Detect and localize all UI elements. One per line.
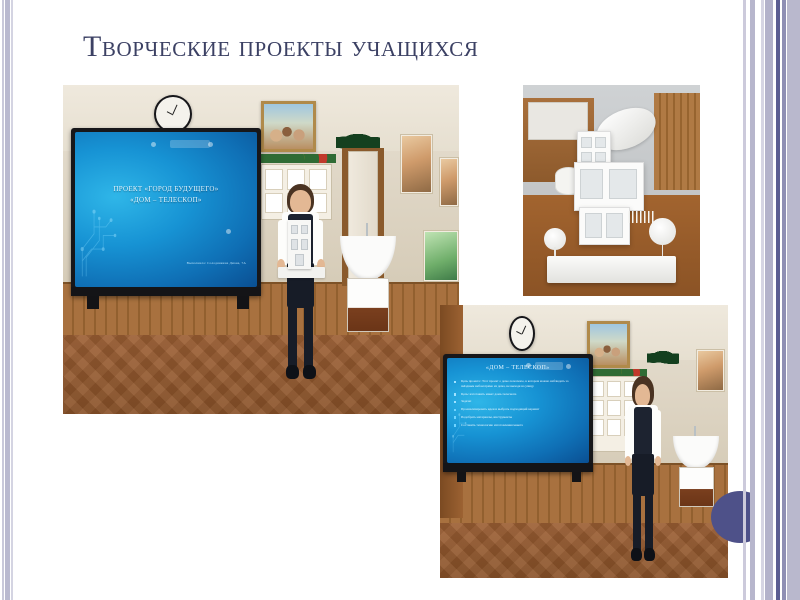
framed-drawing bbox=[587, 321, 630, 367]
toolbar-dot-icon[interactable] bbox=[208, 142, 213, 147]
poster-image bbox=[441, 159, 457, 204]
band-stripe-1 bbox=[743, 0, 746, 600]
whiteboard-stand bbox=[87, 296, 99, 309]
whiteboard-screen[interactable]: ПРОЕКТ «ГОРОД БУДУЩЕГО» «ДОМ – ТЕЛЕСКОП»… bbox=[75, 132, 257, 287]
classroom-scene-2: «ДОМ – ТЕЛЕСКОП» Цель проекта: Этот прое… bbox=[440, 305, 728, 578]
whiteboard-screen[interactable]: «ДОМ – ТЕЛЕСКОП» Цель проекта: Этот прое… bbox=[447, 358, 589, 462]
right-arm bbox=[654, 410, 660, 460]
model-window bbox=[581, 137, 592, 148]
band-stripe-5 bbox=[776, 0, 780, 600]
wall-poster bbox=[696, 349, 725, 393]
poster-image bbox=[425, 232, 457, 281]
bullet-item: Цель проекта: Этот проект о доме-телеско… bbox=[454, 379, 580, 389]
left-arm bbox=[625, 410, 631, 460]
left-leg bbox=[633, 491, 640, 552]
wash-basin bbox=[673, 436, 719, 507]
bullet-item: Составить технологию изготовления макета bbox=[454, 423, 580, 428]
right-shoe bbox=[303, 365, 316, 379]
model-window bbox=[301, 239, 308, 250]
interactive-whiteboard[interactable]: ПРОЕКТ «ГОРОД БУДУЩЕГО» «ДОМ – ТЕЛЕСКОП»… bbox=[71, 128, 261, 296]
model-window bbox=[585, 213, 602, 238]
slide-title: Творческие проекты учащихся bbox=[83, 30, 703, 64]
stripe-2 bbox=[5, 0, 10, 600]
held-house-model bbox=[288, 220, 311, 269]
bullet-item: Подобрать материалы, инструменты bbox=[454, 415, 580, 420]
poster-image bbox=[698, 351, 723, 391]
whiteboard-stand bbox=[237, 296, 249, 309]
model-fence bbox=[628, 211, 655, 223]
model-window bbox=[609, 169, 638, 200]
screen-toolbar[interactable] bbox=[170, 140, 210, 149]
model-window bbox=[595, 152, 606, 163]
slide-line-2: «ДОМ – ТЕЛЕСКОП» bbox=[130, 196, 202, 204]
model-main-block bbox=[574, 162, 644, 210]
left-hand bbox=[625, 456, 631, 466]
basin-cabinet bbox=[679, 467, 714, 507]
head bbox=[635, 384, 651, 407]
dark-vest bbox=[634, 407, 653, 457]
wall-poster bbox=[423, 230, 459, 283]
basin-cabinet bbox=[347, 278, 389, 331]
whiteboard-slide-title: ПРОЕКТ «ГОРОД БУДУЩЕГО» «ДОМ – ТЕЛЕСКОП» bbox=[86, 184, 246, 206]
wall-poster bbox=[439, 157, 459, 206]
model-window bbox=[301, 225, 308, 234]
model-base-platform bbox=[547, 256, 676, 284]
photo-student-presenting-goals[interactable]: «ДОМ – ТЕЛЕСКОП» Цель проекта: Этот прое… bbox=[440, 305, 728, 578]
student-figure bbox=[267, 184, 334, 388]
classroom-scene: ПРОЕКТ «ГОРОД БУДУЩЕГО» «ДОМ – ТЕЛЕСКОП»… bbox=[63, 85, 459, 414]
screen-corner-dot-icon[interactable] bbox=[226, 229, 231, 234]
whiteboard-slide-heading: «ДОМ – ТЕЛЕСКОП» bbox=[447, 365, 589, 371]
model-window bbox=[291, 225, 298, 234]
whiteboard-stand bbox=[457, 472, 466, 483]
model-window bbox=[580, 169, 603, 200]
basin-bowl bbox=[340, 236, 395, 280]
wash-basin bbox=[340, 236, 395, 331]
whiteboard-bezel bbox=[443, 463, 593, 472]
framed-drawing bbox=[261, 101, 316, 152]
right-leg bbox=[645, 491, 652, 552]
photo-white-house-telescope-model[interactable] bbox=[523, 85, 700, 296]
head bbox=[290, 190, 311, 214]
presentation-slide: Творческие проекты учащихся bbox=[0, 0, 800, 600]
model-window bbox=[291, 239, 298, 250]
bullet-item: Задачи: bbox=[454, 399, 580, 404]
band-stripe-7 bbox=[787, 0, 800, 600]
right-decorative-band bbox=[740, 0, 800, 600]
right-hand bbox=[655, 456, 661, 466]
interactive-whiteboard[interactable]: «ДОМ – ТЕЛЕСКОП» Цель проекта: Этот прое… bbox=[443, 354, 593, 471]
new-year-garland bbox=[257, 154, 336, 163]
model-lower-block bbox=[579, 207, 630, 245]
model-window bbox=[581, 152, 592, 163]
whiteboard-slide-credit: Выполнила: Солодянкина Диана, 7А bbox=[187, 261, 246, 265]
stripe-3 bbox=[11, 0, 13, 600]
stripe-1 bbox=[2, 0, 4, 600]
parquet-floor bbox=[440, 523, 728, 578]
slide-line-1: ПРОЕКТ «ГОРОД БУДУЩЕГО» bbox=[113, 185, 218, 193]
whiteboard-stand bbox=[572, 472, 581, 483]
poster-image bbox=[402, 136, 432, 191]
bullet-item: Цель: изготовить макет дома-телескопа bbox=[454, 392, 580, 397]
drawing-figures bbox=[269, 118, 309, 143]
whiteboard-bezel bbox=[71, 287, 261, 296]
band-stripe-3 bbox=[761, 0, 764, 600]
circuit-pattern-icon bbox=[77, 198, 143, 283]
toolbar-dot-icon[interactable] bbox=[151, 142, 156, 147]
parquet-floor bbox=[63, 335, 459, 414]
left-leg bbox=[288, 302, 297, 369]
left-shoe bbox=[631, 548, 641, 561]
left-decorative-stripes bbox=[0, 0, 14, 600]
band-stripe-4 bbox=[765, 0, 773, 600]
student-figure bbox=[619, 376, 668, 567]
photo-student-presenting-project[interactable]: ПРОЕКТ «ГОРОД БУДУЩЕГО» «ДОМ – ТЕЛЕСКОП»… bbox=[63, 85, 459, 414]
band-stripe-6 bbox=[782, 0, 786, 600]
basin-bowl bbox=[673, 436, 719, 469]
model-door bbox=[295, 254, 304, 266]
model-scene bbox=[523, 85, 700, 296]
drawing-figures bbox=[594, 337, 624, 360]
right-shoe bbox=[644, 548, 654, 561]
whiteboard-bullet-list: Цель проекта: Этот проект о доме-телеско… bbox=[454, 379, 580, 430]
bullet-item: Проанализировать идеи и выбрать подходящ… bbox=[454, 407, 580, 412]
right-leg bbox=[304, 302, 313, 369]
band-stripe-2 bbox=[750, 0, 755, 600]
left-shoe bbox=[286, 365, 299, 379]
wall-poster bbox=[400, 134, 434, 193]
model-door bbox=[606, 213, 624, 238]
model-window bbox=[595, 137, 606, 148]
upper-wall bbox=[440, 305, 728, 360]
fir-branch-decoration bbox=[647, 351, 679, 365]
architectural-model bbox=[544, 110, 679, 283]
